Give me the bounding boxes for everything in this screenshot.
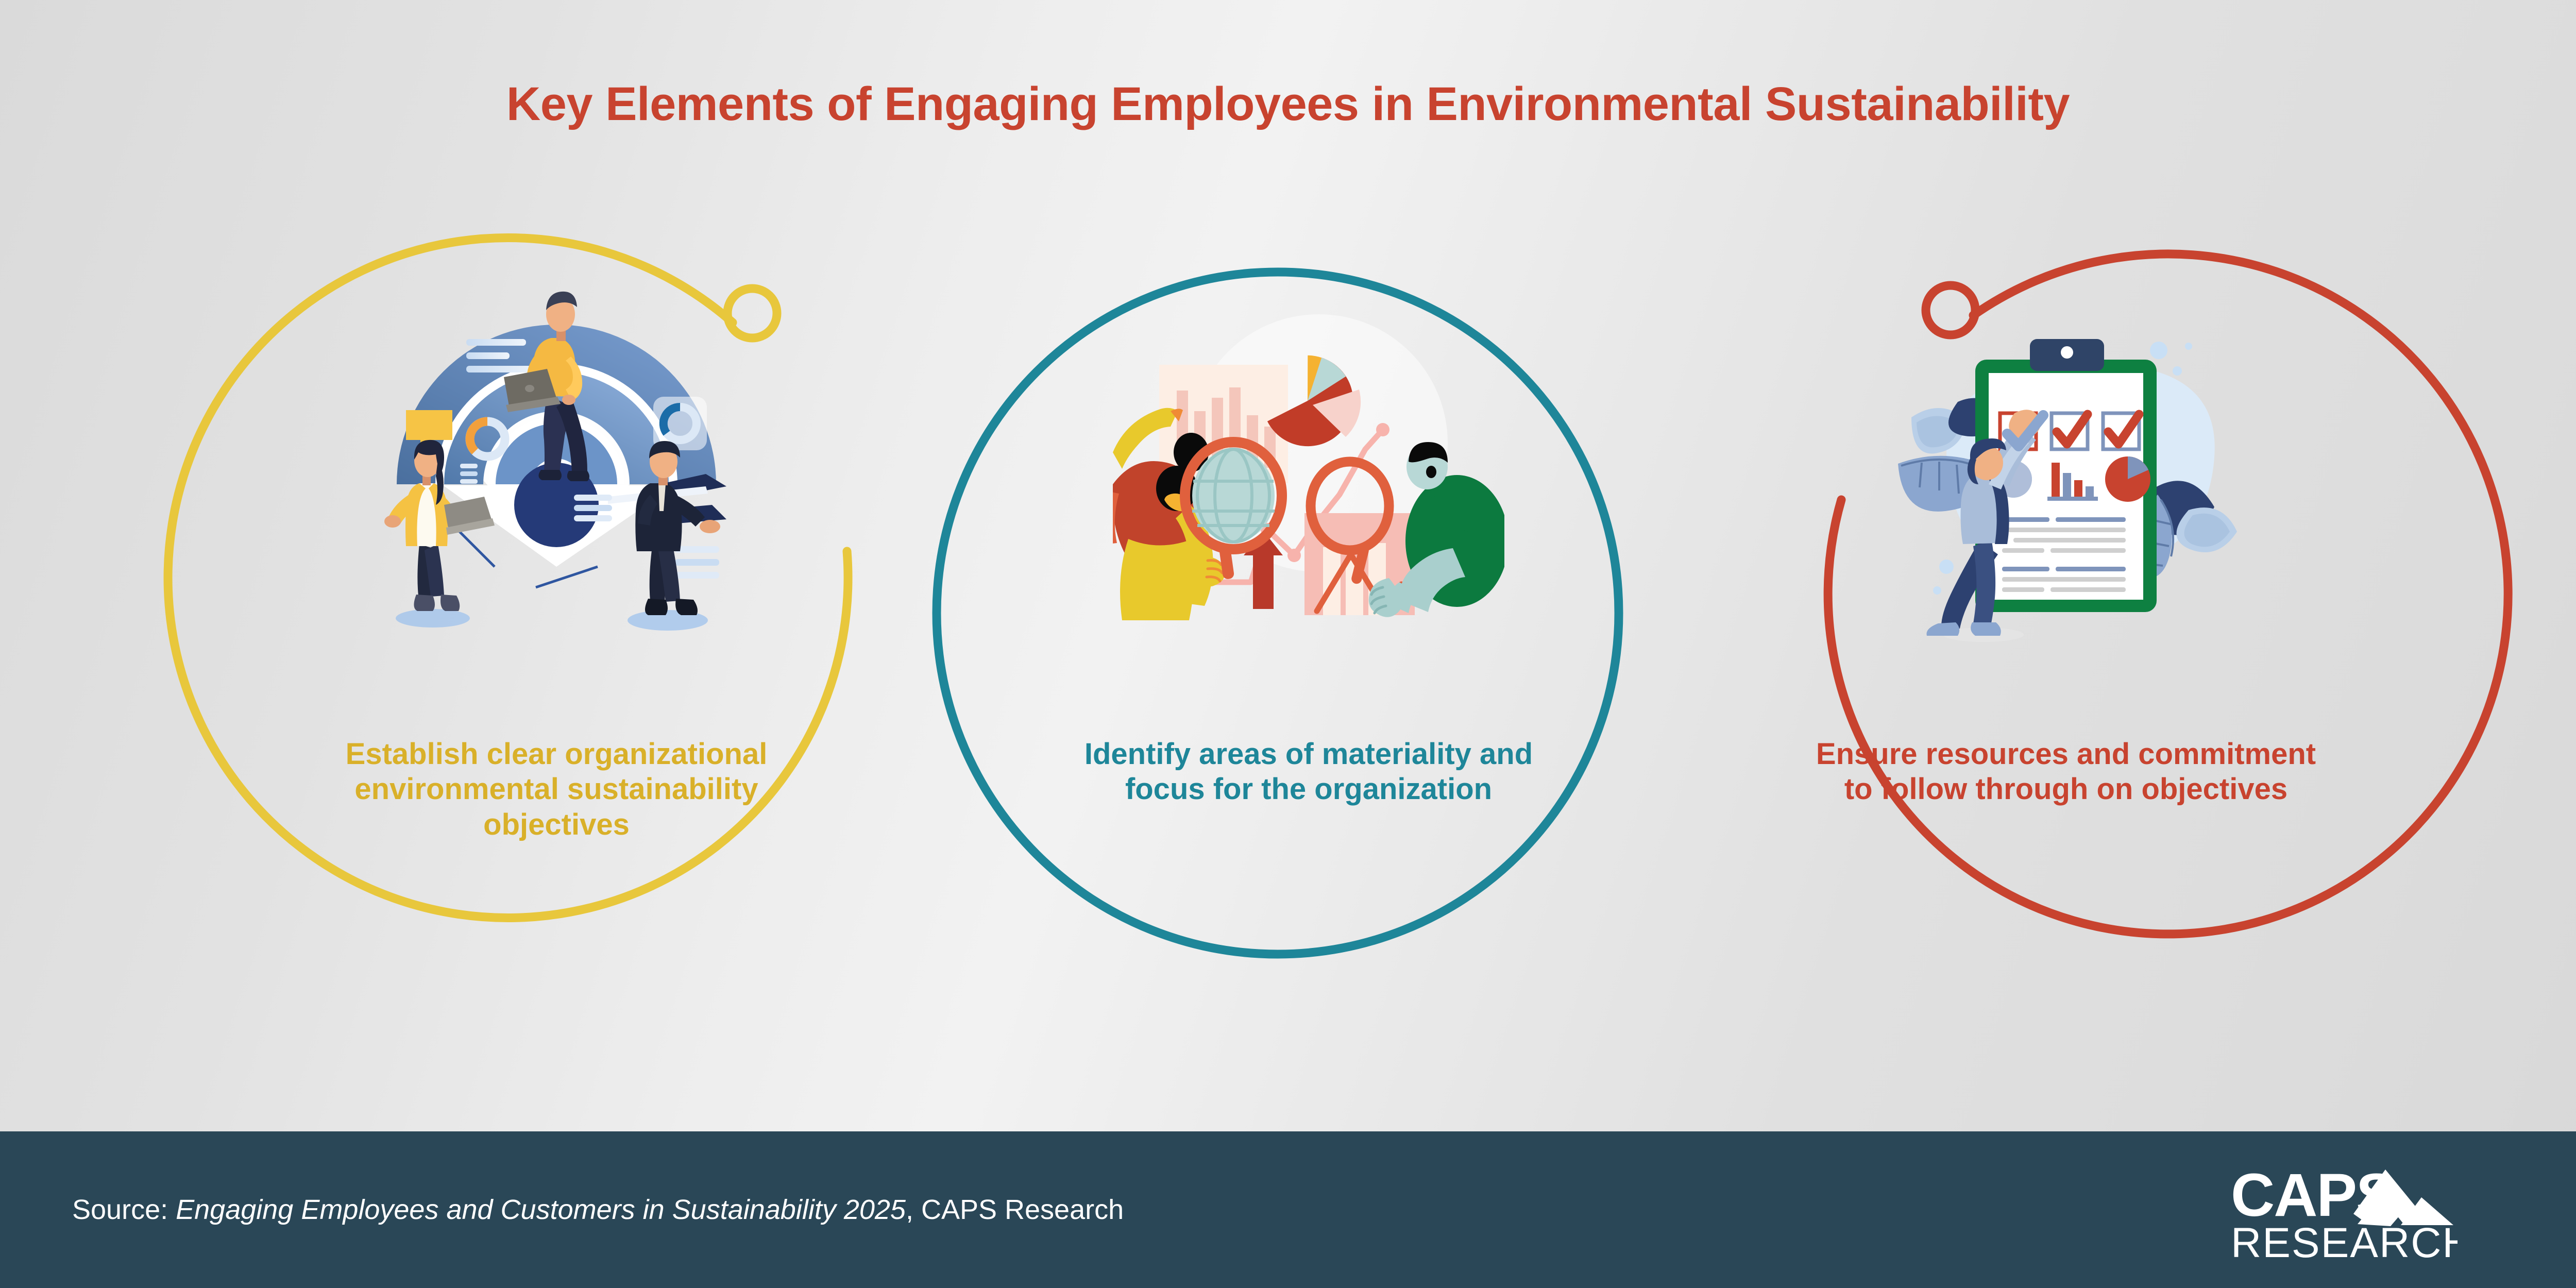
caps-research-logo: CAPS RESEARCH [2231, 1158, 2458, 1261]
magnifying-glass-analytics-icon [1113, 314, 1504, 644]
element-caption-1: Establish clear organizational environme… [299, 737, 814, 842]
element-panel-3: Ensure resources and commitment to follo… [1664, 222, 2468, 1097]
source-prefix: Source: [72, 1194, 176, 1225]
clipboard-checklist-icon [1886, 299, 2246, 659]
element-caption-2: Identify areas of materiality and focus … [1051, 737, 1566, 807]
element-caption-3: Ensure resources and commitment to follo… [1808, 737, 2324, 807]
element-panel-2: Identify areas of materiality and focus … [907, 222, 1710, 1097]
footer-bar: Source: Engaging Employees and Customers… [0, 1131, 2576, 1288]
logo-research-text: RESEARCH [2231, 1219, 2458, 1261]
source-title: Engaging Employees and Customers in Sust… [176, 1194, 906, 1225]
target-bullseye-team-icon [366, 278, 747, 649]
page-title: Key Elements of Engaging Employees in En… [0, 77, 2576, 131]
source-suffix: , CAPS Research [906, 1194, 1124, 1225]
source-citation: Source: Engaging Employees and Customers… [72, 1194, 1124, 1226]
element-panel-1: Establish clear organizational environme… [155, 222, 958, 1097]
infographic-canvas: Key Elements of Engaging Employees in En… [0, 0, 2576, 1288]
